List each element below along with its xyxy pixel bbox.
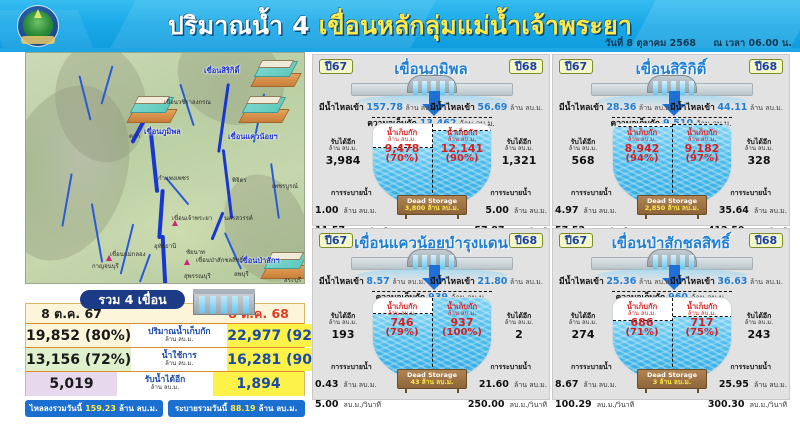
can-accept-68-kwaenoi: รับได้อีก ล้าน ลบ.ม. 2	[491, 313, 547, 340]
inflow-68-bhumibol: มีน้ำไหลเข้า 56.69 ล้าน ลบ.ม.	[430, 100, 543, 114]
can-accept-value: 193	[315, 329, 371, 341]
dam-gate	[653, 81, 658, 95]
can-accept-value: 274	[555, 329, 611, 341]
year-badge-68-sirikit: ปี68	[749, 59, 783, 74]
map-place-label: สระบุรี	[284, 275, 301, 284]
total-inflow-unit: ล้าน ลบ.ม.	[119, 402, 158, 415]
summary-footer: ไหลลงรวมวันนี้ 159.23 ล้าน ลบ.ม. ระบายรว…	[25, 400, 305, 417]
stored-value: 9,182	[673, 143, 731, 154]
thailand-basin-map: เขื่อนสิริกิติ์ เขื่อนภูมิพล เขื่อนแควน้…	[25, 52, 305, 284]
can-accept-unit: ล้าน ลบ.ม.	[315, 320, 371, 326]
dam-gate	[422, 255, 427, 269]
stored-value: 746	[373, 317, 431, 328]
dead-storage-leg	[457, 214, 459, 219]
stored-value: 9,478	[373, 143, 431, 154]
dead-storage-value: 3 ล้าน ลบ.ม.	[638, 379, 706, 386]
release-mcm-value: 25.95	[719, 379, 749, 390]
dam-wall	[258, 60, 294, 68]
can-accept-unit: ล้าน ลบ.ม.	[555, 146, 611, 152]
dam-gate	[662, 81, 667, 95]
can-accept-67-pasak: รับได้อีก ล้าน ลบ.ม. 274	[555, 313, 611, 340]
can-accept-unit: ล้าน ลบ.ม.	[731, 146, 787, 152]
inflow-67-sirikit: มีน้ำไหลเข้า 28.36 ล้าน ลบ.ม.	[559, 100, 672, 114]
map-place-label: เพชรบูรณ์	[272, 181, 298, 191]
inflow-67-bhumibol: มีน้ำไหลเข้า 157.78 ล้าน ลบ.ม.	[319, 100, 439, 114]
stored-68-pasak: น้ำเก็บกัก ล้าน ลบ.ม. 717 (75%)	[673, 303, 731, 338]
dead-storage-value: 43 ล้าน ลบ.ม.	[398, 379, 466, 386]
panel-inflow-row: มีน้ำไหลเข้า 157.78 ล้าน ลบ.ม. มีน้ำไหลเ…	[313, 100, 549, 113]
stored-68-sirikit: น้ำเก็บกัก ล้าน ลบ.ม. 9,182 (97%)	[673, 129, 731, 164]
bowl-capacity-line	[612, 291, 732, 292]
year-badge-67-pasak: ปี67	[559, 233, 593, 248]
summary-stored-label-unit: ล้าน ลบ.ม.	[165, 337, 193, 343]
can-accept-value: 3,984	[315, 155, 371, 167]
bowl-capacity-line	[372, 117, 492, 118]
dead-storage-kwaenoi: Dead Storage 43 ล้าน ลบ.ม.	[397, 369, 467, 389]
dead-storage-leg	[405, 388, 407, 393]
release-rate-value: 250.00	[468, 399, 505, 410]
stored-67-pasak: น้ำเก็บกัก ล้าน ลบ.ม. 686 (71%)	[613, 303, 671, 338]
can-accept-unit: ล้าน ลบ.ม.	[491, 320, 547, 326]
stored-percent: (70%)	[373, 154, 431, 164]
emblem-ribbon	[21, 36, 55, 44]
release-rate-value: 100.29	[555, 399, 592, 410]
dam-gate	[440, 255, 445, 269]
stored-67-sirikit: น้ำเก็บกัก ล้าน ลบ.ม. 8,942 (94%)	[613, 129, 671, 164]
can-accept-67-kwaenoi: รับได้อีก ล้าน ลบ.ม. 193	[315, 313, 371, 340]
total-inflow-label: ไหลลงรวมวันนี้	[30, 402, 83, 415]
map-place-label: กำแพงเพชร	[158, 173, 189, 183]
release-rate-value: 300.30	[708, 399, 745, 410]
dead-storage-leg	[645, 388, 647, 393]
stored-percent: (94%)	[613, 154, 671, 164]
map-place-label: เขื่อนแม่กลอง	[110, 249, 146, 259]
dead-storage-sirikit: Dead Storage 2,850 ล้าน ลบ.ม.	[637, 195, 707, 215]
can-accept-value: 568	[555, 155, 611, 167]
river-nan	[210, 212, 224, 241]
summary-stored-label: ปริมาณน้ำเก็บกัก ล้าน ลบ.ม.	[131, 324, 227, 347]
total-outflow-label: ระบายรวมวันนี้	[175, 402, 227, 415]
can-accept-unit: ล้าน ลบ.ม.	[315, 146, 371, 152]
year-badge-67-kwaenoi: ปี67	[319, 233, 353, 248]
summary-accept-67: 5,019	[26, 372, 117, 396]
year-badge-68-bhumibol: ปี68	[509, 59, 543, 74]
dam-gate	[413, 81, 418, 95]
dam-gate	[689, 81, 694, 95]
bowl-capacity-line	[612, 117, 732, 118]
can-accept-68-bhumibol: รับได้อีก ล้าน ลบ.ม. 1,321	[491, 139, 547, 166]
four-dam-summary: รวม 4 เขื่อน 8 ต.ค. 67 8 ต.ค. 68 19,852 …	[25, 290, 305, 426]
total-outflow-today: ระบายรวมวันนี้ 88.19 ล้าน ลบ.ม.	[168, 400, 306, 417]
river-main	[149, 131, 159, 193]
dam-gate	[232, 296, 238, 313]
reservoir-panel-pasak: เขื่อนป่าสักชลสิทธิ์ ปี67 ปี68 มีน้ำไหลเ…	[552, 228, 790, 400]
map-place-label: ลพบุรี	[234, 269, 249, 279]
dam-gate	[440, 81, 445, 95]
total-inflow-today: ไหลลงรวมวันนี้ 159.23 ล้าน ลบ.ม.	[25, 400, 163, 417]
map-place-label: เขื่อนป่าสักชลสิทธิ์	[196, 255, 243, 265]
dam-gate	[243, 296, 249, 313]
map-place-label: ตาก	[129, 131, 140, 141]
royal-irrigation-department-emblem-icon	[14, 4, 62, 48]
map-place-label: เขื่อนเจ้าพระยา	[172, 213, 212, 223]
summary-accept-label: รับน้ำได้อีก ล้าน ลบ.ม.	[117, 372, 213, 396]
dam-gate	[680, 255, 685, 269]
map-place-label: เขื่อนวชิราลงกรณ	[164, 97, 211, 107]
stored-value: 8,942	[613, 143, 671, 154]
stored-percent: (90%)	[433, 154, 491, 164]
release-mcm-value: 0.43	[315, 379, 338, 390]
release-rate-value: 5.00	[315, 399, 338, 410]
dead-storage-leg	[405, 214, 407, 219]
inflow-67-pasak: มีน้ำไหลเข้า 25.36 ล้าน ลบ.ม.	[559, 274, 672, 288]
stored-value: 12,141	[433, 143, 491, 154]
summary-row-stored: 19,852 (80%) ปริมาณน้ำเก็บกัก ล้าน ลบ.ม.…	[26, 324, 304, 348]
can-accept-unit: ล้าน ลบ.ม.	[491, 146, 547, 152]
can-accept-68-sirikit: รับได้อีก ล้าน ลบ.ม. 328	[731, 139, 787, 166]
summary-usable-label-unit: ล้าน ลบ.ม.	[165, 361, 193, 367]
release-rate-unit: ลบ.ม./วินาที	[510, 401, 547, 409]
stored-67-kwaenoi: น้ำเก็บกัก ล้าน ลบ.ม. 746 (79%)	[373, 303, 431, 338]
stored-67-bhumibol: น้ำเก็บกัก ล้าน ลบ.ม. 9,478 (70%)	[373, 129, 431, 164]
release-mcm-value: 21.60	[479, 379, 509, 390]
bowl-capacity-line	[372, 291, 492, 292]
can-accept-67-bhumibol: รับได้อีก ล้าน ลบ.ม. 3,984	[315, 139, 371, 166]
dam-wall	[246, 96, 282, 104]
map-dam-label-kwaenoi: เขื่อนแควน้อยฯ	[228, 131, 278, 143]
summary-accept-68: 1,894	[213, 372, 304, 396]
dead-storage-leg	[697, 214, 699, 219]
dam-gate	[199, 296, 205, 313]
stored-percent: (79%)	[373, 328, 431, 338]
release-mcm-value: 1.00	[315, 205, 338, 216]
year-badge-67-sirikit: ปี67	[559, 59, 593, 74]
total-inflow-value: 159.23	[85, 404, 116, 413]
dead-storage-value: 2,850 ล้าน ลบ.ม.	[638, 205, 706, 212]
release-mcm-unit: ล้าน ลบ.ม.	[514, 381, 547, 389]
page-header: ปริมาณน้ำ 4 เขื่อนหลักลุ่มแม่น้ำเจ้าพระย…	[0, 0, 800, 52]
release-mcm-value: 5.00	[485, 205, 508, 216]
dead-storage-leg	[645, 214, 647, 219]
stored-percent: (97%)	[673, 154, 731, 164]
reservoir-panel-sirikit: เขื่อนสิริกิติ์ ปี67 ปี68 มีน้ำไหลเข้า 2…	[552, 54, 790, 226]
release-mcm-unit: ล้าน ลบ.ม.	[344, 381, 377, 389]
can-accept-value: 2	[491, 329, 547, 341]
map-dam-icon-kwaenoi	[242, 95, 286, 125]
panel-inflow-row: มีน้ำไหลเข้า 28.36 ล้าน ลบ.ม. มีน้ำไหลเข…	[553, 100, 789, 113]
map-place-label: อุทัยธานี	[154, 241, 176, 251]
stored-percent: (75%)	[673, 328, 731, 338]
page-title-part1: ปริมาณน้ำ 4	[168, 11, 319, 40]
inflow-67-kwaenoi: มีน้ำไหลเข้า 8.57 ล้าน ลบ.ม.	[319, 274, 425, 288]
water-line-68	[673, 124, 732, 125]
map-place-label: พิจิตร	[232, 175, 247, 185]
map-dam-label-bhumibol: เขื่อนภูมิพล	[144, 126, 181, 138]
map-dam-label-pasak: เขื่อนป่าสักฯ	[240, 255, 280, 267]
release-rate-unit: ลบ.ม./วินาที	[344, 401, 381, 409]
summary-dam-icon	[193, 289, 255, 315]
inflow-68-sirikit: มีน้ำไหลเข้า 44.11 ล้าน ลบ.ม.	[670, 100, 783, 114]
release-mcm-unit: ล้าน ลบ.ม.	[514, 207, 547, 215]
reservoir-panel-bhumibol: เขื่อนภูมิพล ปี67 ปี68 มีน้ำไหลเข้า 157.…	[312, 54, 550, 226]
release-mcm-value: 4.97	[555, 205, 578, 216]
stored-value: 937	[433, 317, 491, 328]
dam-gate	[449, 81, 454, 95]
can-accept-68-pasak: รับได้อีก ล้าน ลบ.ม. 243	[731, 313, 787, 340]
dam-gate	[210, 296, 216, 313]
year-badge-68-pasak: ปี68	[749, 233, 783, 248]
dam-gate	[221, 296, 227, 313]
inflow-68-kwaenoi: มีน้ำไหลเข้า 21.80 ล้าน ลบ.ม.	[430, 274, 543, 288]
release-rate-unit: ลบ.ม./วินาที	[597, 401, 634, 409]
dam-gate	[689, 255, 694, 269]
can-accept-unit: ล้าน ลบ.ม.	[555, 320, 611, 326]
summary-row-usable: 13,156 (72%) น้ำใช้การ ล้าน ลบ.ม. 16,281…	[26, 348, 304, 372]
stored-percent: (100%)	[433, 328, 491, 338]
map-place-label: นครสวรรค์	[224, 213, 253, 223]
river-main	[157, 189, 164, 239]
release-mcm-value: 8.67	[555, 379, 578, 390]
summary-usable-67: 13,156 (72%)	[26, 348, 131, 371]
dam-crest	[193, 289, 255, 294]
panel-inflow-row: มีน้ำไหลเข้า 8.57 ล้าน ลบ.ม. มีน้ำไหลเข้…	[313, 274, 549, 287]
summary-row-capacity-left: 5,019 รับน้ำได้อีก ล้าน ลบ.ม. 1,894	[26, 372, 304, 396]
can-accept-value: 243	[731, 329, 787, 341]
year-badge-67-bhumibol: ปี67	[319, 59, 353, 74]
can-accept-unit: ล้าน ลบ.ม.	[731, 320, 787, 326]
water-line-67	[613, 126, 673, 127]
release-mcm-value: 35.64	[719, 205, 749, 216]
panel-inflow-row: มีน้ำไหลเข้า 25.36 ล้าน ลบ.ม. มีน้ำไหลเข…	[553, 274, 789, 287]
release-mcm-unit: ล้าน ลบ.ม.	[344, 207, 377, 215]
dead-storage-leg	[697, 388, 699, 393]
stored-68-bhumibol: น้ำเก็บกัก ล้าน ลบ.ม. 12,141 (90%)	[433, 129, 491, 164]
release-mcm-unit: ล้าน ลบ.ม.	[584, 381, 617, 389]
dam-gate	[653, 255, 658, 269]
summary-title-pill: รวม 4 เขื่อน	[80, 290, 185, 309]
can-accept-value: 1,321	[491, 155, 547, 167]
map-pin	[184, 259, 190, 265]
total-outflow-unit: ล้าน ลบ.ม.	[259, 402, 298, 415]
year-badge-68-kwaenoi: ปี68	[509, 233, 543, 248]
dam-gate	[449, 255, 454, 269]
summary-table: 8 ต.ค. 67 8 ต.ค. 68 19,852 (80%) ปริมาณน…	[25, 303, 305, 396]
stored-68-kwaenoi: น้ำเก็บกัก ล้าน ลบ.ม. 937 (100%)	[433, 303, 491, 338]
dead-storage-pasak: Dead Storage 3 ล้าน ลบ.ม.	[637, 369, 707, 389]
map-place-label: อยุธยา	[248, 283, 266, 284]
summary-accept-label-unit: ล้าน ลบ.ม.	[151, 385, 179, 391]
stored-value: 686	[613, 317, 671, 328]
can-accept-value: 328	[731, 155, 787, 167]
dead-storage-bhumibol: Dead Storage 3,800 ล้าน ลบ.ม.	[397, 195, 467, 215]
total-outflow-value: 88.19	[230, 404, 255, 413]
reservoir-panel-kwaenoi: เขื่อนแควน้อยบำรุงแดน ปี67 ปี68 มีน้ำไหล…	[312, 228, 550, 400]
can-accept-67-sirikit: รับได้อีก ล้าน ลบ.ม. 568	[555, 139, 611, 166]
dam-gate	[680, 81, 685, 95]
stored-percent: (71%)	[613, 328, 671, 338]
dead-storage-value: 3,800 ล้าน ลบ.ม.	[398, 205, 466, 212]
dam-gate	[422, 81, 427, 95]
dead-storage-leg	[457, 388, 459, 393]
summary-usable-label: น้ำใช้การ ล้าน ลบ.ม.	[131, 348, 227, 371]
release-mcm-unit: ล้าน ลบ.ม.	[754, 381, 787, 389]
summary-stored-67: 19,852 (80%)	[26, 324, 131, 347]
map-dam-icon-sirikit	[254, 59, 298, 89]
release-rate-unit: ลบ.ม./วินาที	[750, 401, 787, 409]
dam-gate	[413, 255, 418, 269]
inflow-68-pasak: มีน้ำไหลเข้า 36.63 ล้าน ลบ.ม.	[670, 274, 783, 288]
map-dam-label-sirikit: เขื่อนสิริกิติ์	[204, 65, 239, 77]
stored-value: 717	[673, 317, 731, 328]
release-mcm-unit: ล้าน ลบ.ม.	[754, 207, 787, 215]
map-place-label: กาญจนบุรี	[92, 261, 119, 271]
dam-gate	[662, 255, 667, 269]
map-place-label: สุพรรณบุรี	[184, 271, 211, 281]
release-mcm-unit: ล้าน ลบ.ม.	[584, 207, 617, 215]
